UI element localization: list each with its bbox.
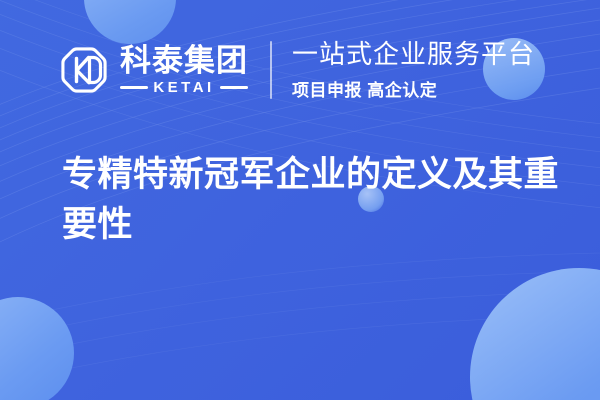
tagline-sub: 项目申报 高企认定	[292, 76, 535, 101]
tagline-main: 一站式企业服务平台	[292, 39, 535, 70]
title-block: 专精特新冠军企业的定义及其重要性	[62, 150, 562, 249]
brand-wordmark: 科泰集团 KETAI	[120, 45, 248, 95]
wordmark-rule-right	[220, 86, 248, 89]
header-divider	[270, 41, 272, 99]
decor-circle-bottom-right	[470, 268, 600, 400]
brand-lockup[interactable]: 科泰集团 KETAI	[58, 44, 248, 96]
brand-name-en-row: KETAI	[120, 80, 248, 95]
tagline-block: 一站式企业服务平台 项目申报 高企认定	[292, 39, 535, 102]
decor-circle-bottom-left	[0, 297, 74, 400]
ketai-diamond-kd-logo-icon	[58, 44, 110, 96]
brand-name-en: KETAI	[153, 80, 214, 95]
brand-name-cn: 科泰集团	[120, 45, 248, 76]
banner-header: 科泰集团 KETAI 一站式企业服务平台 项目申报 高企认定	[0, 0, 600, 140]
promo-banner: 科泰集团 KETAI 一站式企业服务平台 项目申报 高企认定 专精特新冠军企业的…	[0, 0, 600, 400]
wordmark-rule-left	[120, 86, 148, 89]
page-title: 专精特新冠军企业的定义及其重要性	[62, 150, 562, 249]
